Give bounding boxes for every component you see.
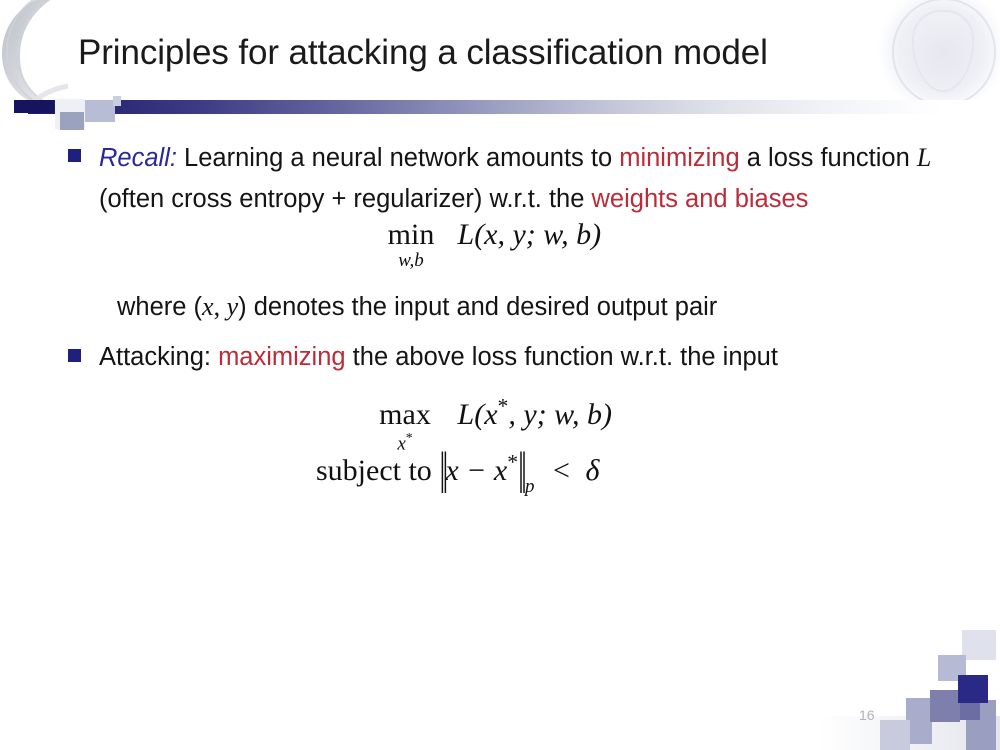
attacking-segment-1: Attacking: bbox=[99, 343, 218, 371]
equation-constraint-row: subject to ||x − x*||p < δ bbox=[68, 450, 968, 502]
highlight-weights-and-biases: weights and biases bbox=[592, 185, 809, 213]
title-divider-bar bbox=[28, 100, 980, 114]
corner-square-3 bbox=[936, 700, 980, 720]
equation-max-row: max x* L(x*, y; w, b) bbox=[68, 394, 968, 444]
corner-square-4 bbox=[906, 698, 932, 744]
square-bullet-icon bbox=[68, 149, 81, 162]
page-title: Principles for attacking a classificatio… bbox=[78, 34, 938, 73]
where-line: where (x, y) denotes the input and desir… bbox=[68, 286, 968, 328]
subject-to-label: subject to bbox=[316, 454, 432, 487]
corner-square-1 bbox=[958, 675, 988, 703]
attacking-segment-3: the above loss function w.r.t. the input bbox=[346, 343, 778, 371]
highlight-maximizing: maximizing bbox=[218, 343, 346, 371]
recall-label: Recall: bbox=[99, 144, 177, 172]
where-var-y: y bbox=[227, 292, 239, 321]
bullet-item-recall: Recall: Learning a neural network amount… bbox=[68, 137, 968, 220]
equation-min-args: (x, y; w, b) bbox=[474, 218, 601, 251]
equation-max-args: (x*, y; w, b) bbox=[474, 398, 612, 431]
corner-square-5 bbox=[938, 655, 966, 681]
equation-min: min w,b L(x, y; w, b) bbox=[380, 218, 601, 252]
norm-subscript-p: p bbox=[525, 476, 535, 497]
highlight-minimizing: minimizing bbox=[619, 144, 739, 172]
corner-square-7 bbox=[880, 720, 910, 750]
bound-delta: δ bbox=[585, 454, 599, 487]
equation-max: max x* L(x*, y; w, b) bbox=[368, 394, 612, 432]
max-operator: max bbox=[368, 400, 442, 430]
where-comma: , bbox=[214, 292, 227, 321]
recall-segment-5: (often cross entropy + regularizer) w.r.… bbox=[99, 185, 592, 213]
equation-min-row: min w,b L(x, y; w, b) bbox=[68, 220, 968, 268]
equation-constraint: subject to ||x − x*||p < δ bbox=[316, 450, 599, 493]
recall-segment-1: Learning a neural network amounts to bbox=[177, 144, 619, 172]
equation-max-L: L bbox=[458, 398, 475, 431]
page-number: 16 bbox=[859, 707, 875, 723]
divider-square-lower bbox=[60, 112, 84, 130]
corner-square-2 bbox=[930, 690, 960, 722]
slide-body: Recall: Learning a neural network amount… bbox=[68, 137, 968, 502]
max-subscript-star: * bbox=[406, 430, 413, 445]
equation-min-L: L bbox=[458, 218, 475, 251]
where-var-x: x bbox=[202, 292, 214, 321]
recall-segment-3: a loss function bbox=[740, 144, 917, 172]
norm-bar-left: || bbox=[439, 444, 445, 495]
corner-square-8 bbox=[966, 700, 996, 750]
corner-shade bbox=[820, 716, 1000, 750]
corner-square-6 bbox=[962, 630, 996, 660]
relation-less-than: < bbox=[553, 454, 570, 487]
min-operator: min bbox=[380, 220, 442, 250]
bullet-item-attacking: Attacking: maximizing the above loss fun… bbox=[68, 337, 968, 378]
where-suffix: ) denotes the input and desired output p… bbox=[238, 293, 717, 321]
norm-bar-right: || bbox=[518, 444, 524, 495]
bullet-attacking-text: Attacking: maximizing the above loss fun… bbox=[99, 337, 968, 378]
norm-body: x − x bbox=[445, 454, 507, 487]
min-subscript: w,b bbox=[380, 251, 442, 270]
bullet-recall-text: Recall: Learning a neural network amount… bbox=[99, 137, 968, 220]
slide: Principles for attacking a classificatio… bbox=[0, 0, 1000, 750]
square-bullet-icon bbox=[68, 349, 81, 362]
norm-body-star: * bbox=[507, 450, 518, 474]
where-prefix: where ( bbox=[117, 293, 202, 321]
loss-symbol-L: L bbox=[917, 143, 931, 172]
